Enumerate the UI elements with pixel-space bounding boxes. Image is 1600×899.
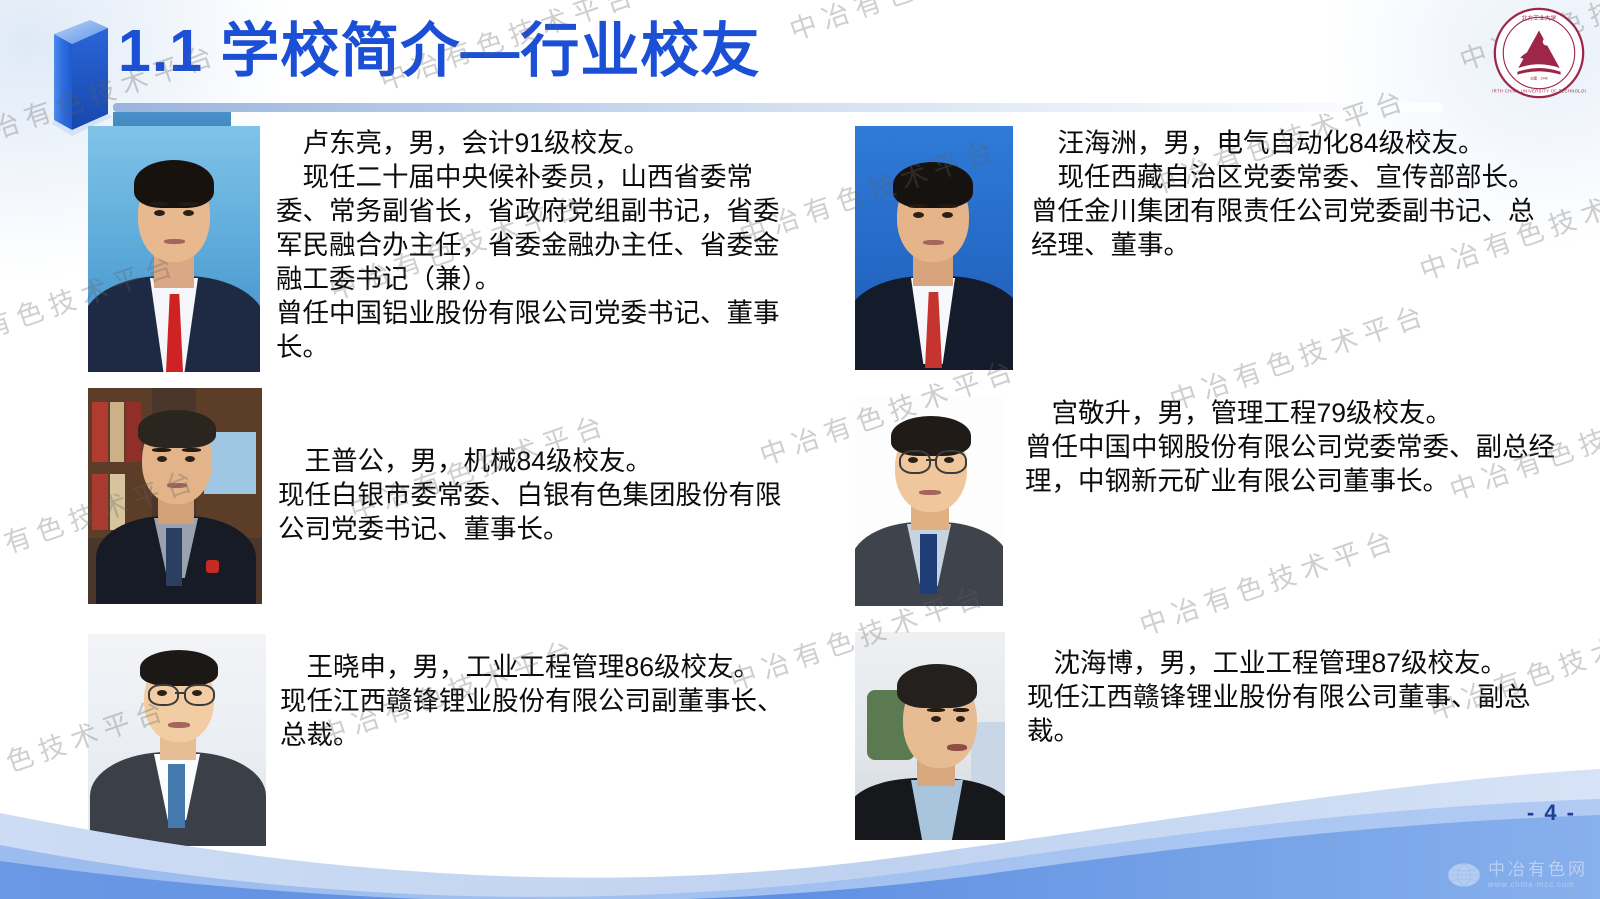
university-logo: 北方工业大学 NORTH CHINA UNIVERSITY OF TECHNOL… [1492, 6, 1586, 100]
svg-text:NORTH CHINA UNIVERSITY OF TECH: NORTH CHINA UNIVERSITY OF TECHNOLOGY [1492, 88, 1586, 93]
alumni-photo-wang-haizhou [855, 126, 1013, 370]
site-watermark-url: www.china-mcc.com [1488, 881, 1588, 889]
alumni-bio-text: 王晓申，男，工业工程管理86级校友。 现任江西赣锋锂业股份有限公司副董事长、总裁… [280, 650, 798, 752]
alumni-entry: 卢东亮，男，会计91级校友。 现任二十届中央候补委员，山西省委常委、常务副省长，… [88, 126, 798, 376]
alumni-column-left: 卢东亮，男，会计91级校友。 现任二十届中央候补委员，山西省委常委、常务副省长，… [88, 126, 798, 850]
alumni-entry: 汪海洲，男，电气自动化84级校友。 现任西藏自治区党委常委、宣传部部长。 曾任金… [855, 126, 1555, 376]
svg-text:北方工业大学: 北方工业大学 [1522, 14, 1557, 22]
alumni-column-right: 汪海洲，男，电气自动化84级校友。 现任西藏自治区党委常委、宣传部部长。 曾任金… [855, 126, 1555, 842]
site-watermark-name: 中冶有色网 [1488, 861, 1588, 878]
alumni-bio-text: 卢东亮，男，会计91级校友。 现任二十届中央候补委员，山西省委常委、常务副省长，… [276, 126, 798, 364]
alumni-bio-text: 王普公，男，机械84级校友。 现任白银市委常委、白银有色集团股份有限公司党委书记… [278, 444, 798, 546]
alumni-entry: 宫敬升，男，管理工程79级校友。 曾任中国中钢股份有限公司党委常委、副总经理，中… [855, 396, 1555, 616]
globe-icon [1446, 862, 1482, 888]
alumni-photo-wang-pugong [88, 388, 262, 604]
alumni-entry: 王普公，男，机械84级校友。 现任白银市委常委、白银有色集团股份有限公司党委书记… [88, 388, 798, 620]
title-underline-rule [113, 103, 1443, 112]
watermark-text: 中冶有色技术平台 [784, 0, 1054, 48]
alumni-bio-text: 宫敬升，男，管理工程79级校友。 曾任中国中钢股份有限公司党委常委、副总经理，中… [1025, 396, 1555, 498]
alumni-photo-gong-jingsheng [855, 396, 1003, 606]
alumni-photo-lu-dongliang [88, 126, 260, 372]
alumni-bio-text: 汪海洲，男，电气自动化84级校友。 现任西藏自治区党委常委、宣传部部长。 曾任金… [1031, 126, 1555, 262]
bottom-wave-decoration [0, 749, 1600, 899]
site-watermark: 中冶有色网 www.china-mcc.com [1446, 861, 1588, 889]
page-title: 1.1 学校简介—行业校友 [118, 22, 760, 81]
page-number: - 4 - [1527, 800, 1576, 826]
alumni-bio-text: 沈海博，男，工业工程管理87级校友。 现任江西赣锋锂业股份有限公司董事、副总裁。 [1027, 646, 1555, 748]
svg-text:创建 · 1946: 创建 · 1946 [1530, 75, 1547, 80]
slide-canvas: 1.1 学校简介—行业校友 北方工业大学 NORTH CHINA UNIVERS… [0, 0, 1600, 899]
title-3d-block-decoration [46, 18, 118, 136]
